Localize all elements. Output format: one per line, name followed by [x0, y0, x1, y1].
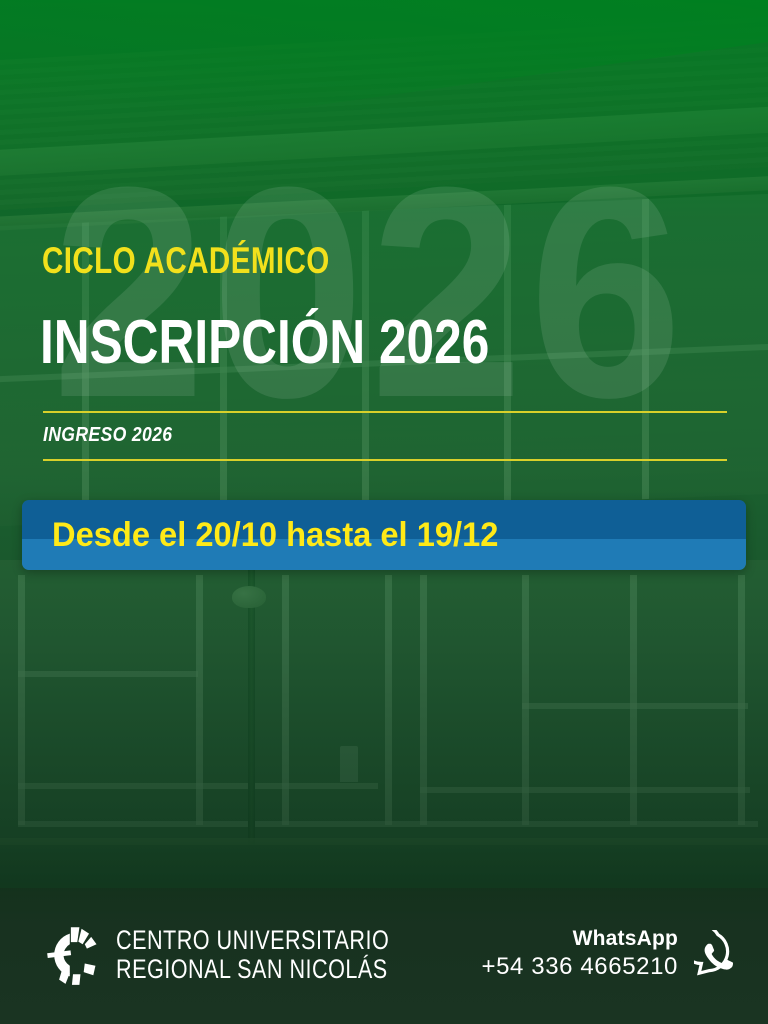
page-title: INSCRIPCIÓN 2026: [40, 312, 489, 374]
poster-content: CICLO ACADÉMICO INSCRIPCIÓN 2026 INGRESO…: [0, 0, 768, 1024]
divider-rule-bottom: [43, 459, 727, 461]
segmented-c-logo-icon: [46, 924, 100, 986]
subtitle-text: INGRESO 2026: [43, 424, 172, 447]
brand-line-1: CENTRO UNIVERSITARIO: [116, 926, 389, 955]
poster-canvas: 2026 CICLO ACADÉMICO INSCRIPCIÓN 2026 IN…: [0, 0, 768, 1024]
date-range-text: Desde el 20/10 hasta el 19/12: [52, 516, 498, 555]
divider-rule-top: [43, 411, 727, 413]
brand-line-2: REGIONAL SAN NICOLÁS: [116, 955, 389, 984]
brand-wordmark: CENTRO UNIVERSITARIO REGIONAL SAN NICOLÁ…: [116, 926, 389, 984]
whatsapp-label: WhatsApp: [481, 926, 678, 952]
contact-text-block: WhatsApp +54 336 4665210: [481, 926, 678, 982]
date-range-banner[interactable]: Desde el 20/10 hasta el 19/12: [22, 500, 746, 570]
whatsapp-number: +54 336 4665210: [481, 952, 678, 982]
whatsapp-icon[interactable]: [694, 930, 742, 978]
whatsapp-contact[interactable]: WhatsApp +54 336 4665210: [481, 926, 742, 982]
eyebrow-text: CICLO ACADÉMICO: [42, 240, 330, 282]
brand-lockup: CENTRO UNIVERSITARIO REGIONAL SAN NICOLÁ…: [46, 924, 458, 986]
